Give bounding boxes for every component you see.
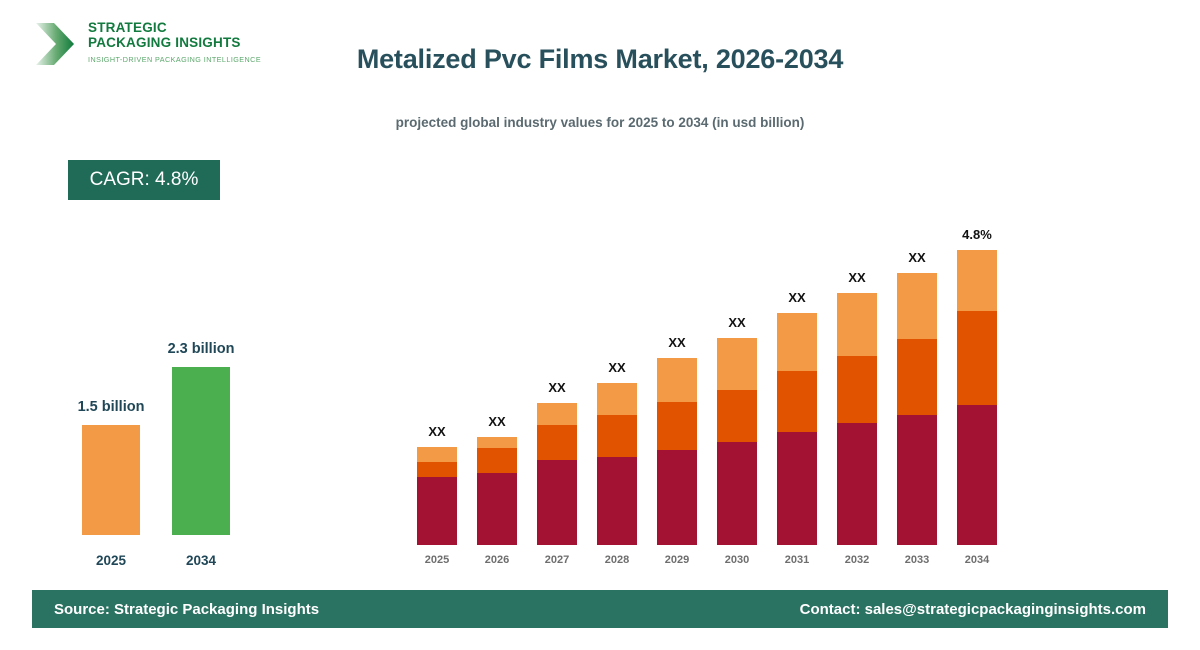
stacked-bar-segment xyxy=(537,425,577,460)
chart-page: STRATEGIC PACKAGING INSIGHTS INSIGHT-DRI… xyxy=(0,0,1200,650)
company-logo: STRATEGIC PACKAGING INSIGHTS INSIGHT-DRI… xyxy=(32,16,252,78)
stacked-bar-segment xyxy=(597,457,637,545)
logo-line-2: PACKAGING INSIGHTS xyxy=(88,35,252,50)
stacked-bar xyxy=(657,358,697,545)
stacked-bar-segment xyxy=(837,356,877,423)
logo-line-1: STRATEGIC xyxy=(88,20,252,35)
stacked-bar-segment xyxy=(657,450,697,545)
stacked-bar-segment xyxy=(897,415,937,545)
stacked-bar-value-label: XX xyxy=(887,250,947,265)
stacked-bar-segment xyxy=(657,402,697,450)
page-title: Metalized Pvc Films Market, 2026-2034 xyxy=(240,44,960,75)
logo-wordmark: STRATEGIC PACKAGING INSIGHTS INSIGHT-DRI… xyxy=(88,20,252,64)
comparison-bar-year-label: 2025 xyxy=(66,553,156,568)
stacked-bar-year-label: 2034 xyxy=(949,554,1005,566)
footer-bar: Source: Strategic Packaging Insights Con… xyxy=(32,590,1168,628)
stacked-bar-year-label: 2025 xyxy=(409,554,465,566)
footer-source: Source: Strategic Packaging Insights xyxy=(54,601,319,618)
stacked-bar-value-label: XX xyxy=(527,380,587,395)
stacked-bar-segment xyxy=(717,390,757,442)
stacked-bar-value-label: XX xyxy=(707,315,767,330)
comparison-bar-value-label: 2.3 billion xyxy=(146,341,256,357)
stacked-bar xyxy=(777,313,817,545)
stacked-bar-segment xyxy=(957,405,997,545)
stacked-bar-segment xyxy=(537,403,577,425)
stacked-bar xyxy=(837,293,877,545)
stacked-bar-year-label: 2033 xyxy=(889,554,945,566)
stacked-bar-year-label: 2027 xyxy=(529,554,585,566)
stacked-bar-segment xyxy=(837,423,877,545)
green-chevron-icon xyxy=(32,20,80,68)
footer-contact: Contact: sales@strategicpackaginginsight… xyxy=(800,601,1146,618)
stacked-bar-segment xyxy=(837,293,877,356)
stacked-bar-segment xyxy=(597,415,637,457)
stacked-bar-segment xyxy=(717,442,757,545)
stacked-bar-segment xyxy=(477,437,517,448)
stacked-bar-chart: XX2025XX2026XX2027XX2028XX2029XX2030XX20… xyxy=(400,200,1040,570)
comparison-bar xyxy=(82,425,140,535)
comparison-bar-value-label: 1.5 billion xyxy=(56,399,166,415)
stacked-bar xyxy=(957,250,997,545)
comparison-bar-chart: 1.5 billion20252.3 billion2034 xyxy=(40,300,300,580)
stacked-bar-year-label: 2028 xyxy=(589,554,645,566)
page-subtitle: projected global industry values for 202… xyxy=(240,115,960,130)
stacked-bar-segment xyxy=(597,383,637,415)
stacked-bar-segment xyxy=(897,273,937,339)
stacked-bar-segment xyxy=(417,447,457,462)
stacked-bar-segment xyxy=(897,339,937,415)
stacked-bar xyxy=(537,403,577,545)
stacked-bar-year-label: 2032 xyxy=(829,554,885,566)
comparison-bar xyxy=(172,367,230,535)
stacked-bar xyxy=(417,447,457,545)
stacked-bar-segment xyxy=(957,250,997,311)
stacked-bar-segment xyxy=(777,432,817,545)
logo-tagline: INSIGHT-DRIVEN PACKAGING INTELLIGENCE xyxy=(88,55,252,64)
stacked-bar-value-label: XX xyxy=(647,335,707,350)
stacked-bar-year-label: 2026 xyxy=(469,554,525,566)
cagr-badge: CAGR: 4.8% xyxy=(68,160,220,200)
stacked-bar-segment xyxy=(717,338,757,390)
stacked-bar xyxy=(597,383,637,545)
stacked-bar-segment xyxy=(417,477,457,545)
stacked-bar xyxy=(477,437,517,545)
stacked-bar-value-label: XX xyxy=(767,290,827,305)
stacked-bar-segment xyxy=(657,358,697,402)
stacked-bar-value-label: XX xyxy=(407,424,467,439)
stacked-bar-segment xyxy=(477,473,517,545)
stacked-bar-segment xyxy=(777,313,817,371)
stacked-bar-value-label: XX xyxy=(587,360,647,375)
stacked-bar-year-label: 2029 xyxy=(649,554,705,566)
stacked-bar-segment xyxy=(537,460,577,545)
stacked-bar-year-label: 2030 xyxy=(709,554,765,566)
stacked-bar xyxy=(897,273,937,545)
stacked-bar-segment xyxy=(957,311,997,405)
stacked-bar-value-label: 4.8% xyxy=(947,227,1007,242)
stacked-bar-segment xyxy=(477,448,517,473)
comparison-bar-year-label: 2034 xyxy=(156,553,246,568)
stacked-bar-segment xyxy=(417,462,457,477)
stacked-bar-year-label: 2031 xyxy=(769,554,825,566)
stacked-bar xyxy=(717,338,757,545)
stacked-bar-value-label: XX xyxy=(827,270,887,285)
stacked-bar-segment xyxy=(777,371,817,432)
stacked-bar-value-label: XX xyxy=(467,414,527,429)
